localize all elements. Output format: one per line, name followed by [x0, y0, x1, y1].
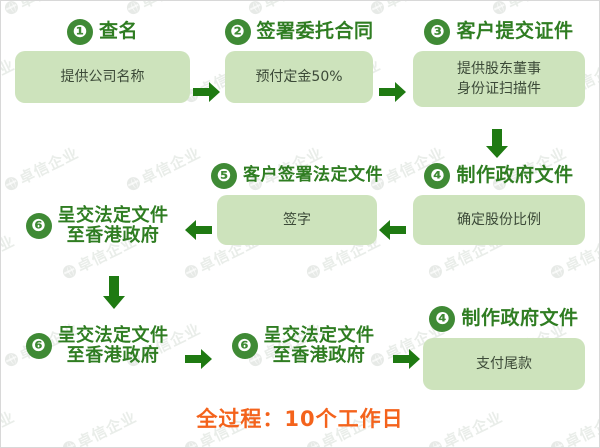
arrow-left-step4-step5 [379, 219, 407, 241]
step-4-box-line-1: 确定股份比例 [457, 210, 541, 230]
step-6-badge: ❻ [26, 213, 52, 239]
flowchart-canvas: 卓信企业卓信企业卓信企业卓信企业卓信企业卓信企业卓信企业卓信企业卓信企业卓信企业… [0, 0, 600, 448]
arrow-left-step5-step6 [185, 219, 213, 241]
watermark-text: 卓信企业 [503, 1, 570, 13]
step-3-title: 客户提交证件 [456, 22, 573, 42]
step-4b-box[interactable]: 支付尾款 [423, 338, 585, 390]
flow-node-step-4b[interactable]: ❹ 制作政府文件 支付尾款 [423, 306, 585, 390]
watermark-text: 卓信企业 [137, 1, 204, 13]
arrow-right-step2-step3 [379, 81, 407, 103]
step-6b-title-line-1: 呈交法定文件 [58, 326, 169, 346]
step-1-badge: ❶ [67, 19, 93, 45]
globe-icon [549, 263, 566, 280]
flow-node-step-6b[interactable]: ❻ 呈交法定文件 至香港政府 [13, 326, 181, 366]
step-6-title-line-2: 至香港政府 [58, 226, 169, 246]
step-4-box[interactable]: 确定股份比例 [413, 195, 585, 245]
step-5-header: ❺ 客户签署法定文件 [217, 163, 377, 189]
watermark-text: 卓信企业 [15, 142, 82, 189]
arrow-down-step3-step4 [485, 129, 509, 159]
step-1-box-line-1: 提供公司名称 [61, 67, 145, 87]
step-6-title-line-1: 呈交法定文件 [58, 206, 169, 226]
watermark-text: 卓信企业 [381, 1, 448, 13]
globe-icon [183, 263, 200, 280]
watermark-text: 卓信企业 [15, 1, 82, 13]
globe-icon [61, 439, 78, 448]
arrow-down-step6-step6b [102, 276, 126, 310]
watermark-tile: 卓信企业 [489, 1, 570, 20]
step-4-title: 制作政府文件 [456, 166, 573, 186]
step-6c-title-line-2: 至香港政府 [264, 346, 375, 366]
flow-node-step-5[interactable]: ❺ 客户签署法定文件 签字 [217, 163, 377, 245]
step-6c-header: ❻ 呈交法定文件 至香港政府 [219, 326, 387, 366]
watermark-tile: 卓信企业 [245, 1, 326, 20]
step-6b-badge: ❻ [26, 333, 52, 359]
step-6b-header: ❻ 呈交法定文件 至香港政府 [13, 326, 181, 366]
flow-node-step-1[interactable]: ❶ 查名 提供公司名称 [15, 19, 190, 103]
step-5-title: 客户签署法定文件 [243, 167, 383, 185]
step-4b-header: ❹ 制作政府文件 [423, 306, 585, 332]
flow-node-step-6[interactable]: ❻ 呈交法定文件 至香港政府 [13, 206, 181, 246]
watermark-tile: 卓信企业 [1, 1, 82, 20]
globe-icon [183, 439, 200, 448]
arrow-right-step1-step2 [193, 81, 221, 103]
globe-icon [549, 439, 566, 448]
step-3-box-line-2: 身份证扫描件 [457, 79, 541, 99]
globe-icon [125, 175, 142, 192]
step-6c-badge: ❻ [232, 333, 258, 359]
step-2-badge: ❷ [225, 19, 251, 45]
step-3-header: ❸ 客户提交证件 [413, 19, 585, 45]
watermark-tile: 卓信企业 [123, 142, 204, 196]
globe-icon [305, 439, 322, 448]
globe-icon [3, 1, 20, 16]
globe-icon [3, 175, 20, 192]
flow-node-step-3[interactable]: ❸ 客户提交证件 提供股东董事 身份证扫描件 [413, 19, 585, 107]
step-4b-title: 制作政府文件 [461, 309, 578, 329]
step-1-box[interactable]: 提供公司名称 [15, 51, 190, 103]
arrow-right-step6b-step6c [185, 348, 213, 370]
total-duration-note: 全过程：10个工作日 [1, 403, 599, 433]
flow-node-step-4[interactable]: ❹ 制作政府文件 确定股份比例 [413, 163, 585, 245]
step-6-title: 呈交法定文件 至香港政府 [58, 206, 169, 246]
watermark-tile: 卓信企业 [367, 1, 448, 20]
step-6b-title: 呈交法定文件 至香港政府 [58, 326, 169, 366]
watermark-tile: 卓信企业 [123, 1, 204, 20]
step-6-header: ❻ 呈交法定文件 至香港政府 [13, 206, 181, 246]
arrow-right-step6c-step4b [393, 348, 421, 370]
flow-node-step-6c[interactable]: ❻ 呈交法定文件 至香港政府 [219, 326, 387, 366]
step-2-box[interactable]: 预付定金50% [225, 51, 373, 103]
globe-icon [491, 1, 508, 16]
step-3-box[interactable]: 提供股东董事 身份证扫描件 [413, 51, 585, 107]
globe-icon [305, 263, 322, 280]
step-5-badge: ❺ [211, 163, 237, 189]
watermark-text: 卓信企业 [259, 1, 326, 13]
step-2-header: ❷ 签署委托合同 [225, 19, 373, 45]
globe-icon [125, 1, 142, 16]
step-6c-title: 呈交法定文件 至香港政府 [264, 326, 375, 366]
flow-node-step-2[interactable]: ❷ 签署委托合同 预付定金50% [225, 19, 373, 103]
step-4b-box-line-1: 支付尾款 [476, 354, 532, 374]
step-6b-title-line-2: 至香港政府 [58, 346, 169, 366]
step-2-title: 签署委托合同 [257, 22, 374, 42]
globe-icon [247, 1, 264, 16]
globe-icon [369, 1, 386, 16]
globe-icon [427, 439, 444, 448]
step-5-box-line-1: 签字 [283, 210, 311, 230]
step-4b-badge: ❹ [429, 306, 455, 332]
step-2-box-line-1: 预付定金50% [255, 67, 342, 87]
step-6c-title-line-1: 呈交法定文件 [264, 326, 375, 346]
step-3-badge: ❸ [424, 19, 450, 45]
step-4-header: ❹ 制作政府文件 [413, 163, 585, 189]
step-1-header: ❶ 查名 [15, 19, 190, 45]
globe-icon [61, 263, 78, 280]
watermark-tile: 卓信企业 [1, 142, 82, 196]
globe-icon [427, 263, 444, 280]
step-5-box[interactable]: 签字 [217, 195, 377, 245]
watermark-text: 卓信企业 [137, 142, 204, 189]
step-1-title: 查名 [99, 22, 138, 42]
step-3-box-line-1: 提供股东董事 [457, 59, 541, 79]
step-4-badge: ❹ [424, 163, 450, 189]
